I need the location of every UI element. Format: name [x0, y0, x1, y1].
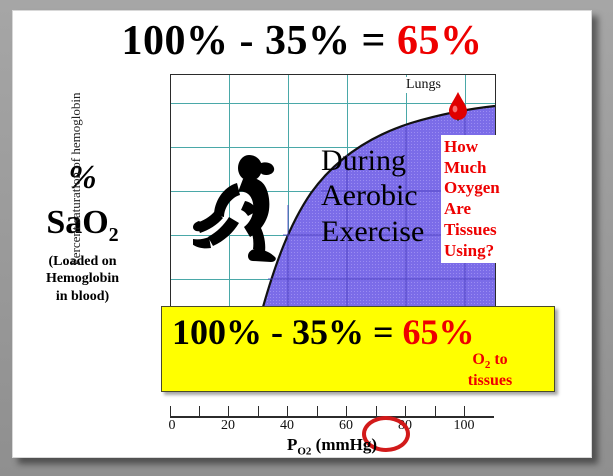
- x-axis-title-sub: O2: [297, 445, 311, 457]
- title-equation: 100% - 35% = 65%: [13, 17, 591, 65]
- x-tick-mark: [170, 406, 171, 417]
- banner-note-line-1: O2 to: [442, 351, 538, 372]
- x-tick-label: 20: [221, 418, 235, 434]
- x-tick-mark: [464, 406, 465, 417]
- title-equation-rhs: 65%: [397, 18, 483, 64]
- x-tick-mark: [346, 406, 347, 417]
- banner-note-to: to: [490, 351, 507, 368]
- x-tick-label: 0: [169, 418, 176, 434]
- y-tick-mark: [170, 279, 171, 280]
- x-tick-mark: [199, 406, 200, 417]
- banner-equation: 100% - 35% = 65%: [172, 311, 475, 353]
- x-axis: 0 20 40 60 80 100: [170, 404, 494, 418]
- x-tick-mark: [287, 406, 288, 417]
- x-axis-line: [170, 416, 494, 418]
- x-tick-mark: [228, 406, 229, 417]
- runner-silhouette-icon: [193, 149, 289, 267]
- x-tick-mark: [435, 406, 436, 417]
- question-text: How Much Oxygen Are Tissues Using?: [441, 135, 525, 263]
- title-equation-lhs: 100% - 35% =: [122, 18, 386, 64]
- x-tick-mark: [376, 406, 377, 417]
- slide-canvas: 100% - 35% = 65% % SaO2 (Loaded on Hemog…: [12, 10, 592, 458]
- x-axis-title: PO2 (mmHg): [170, 435, 494, 457]
- y-tick-mark: [170, 103, 171, 104]
- x-axis-title-unit: (mmHg): [311, 435, 377, 454]
- x-tick-mark: [317, 406, 318, 417]
- banner-note-line-2: tissues: [442, 372, 538, 390]
- x-tick-label: 60: [339, 418, 353, 434]
- blood-drop-icon: [447, 91, 469, 121]
- banner-note: O2 to tissues: [442, 351, 538, 390]
- summary-banner: 100% - 35% = 65% O2 to tissues: [161, 306, 555, 392]
- x-tick-label: 40: [280, 418, 294, 434]
- banner-equation-lhs: 100% - 35% =: [172, 312, 394, 352]
- x-tick-mark: [405, 406, 406, 417]
- banner-equation-rhs: 65%: [403, 312, 475, 352]
- y-tick-mark: [170, 191, 171, 192]
- exercise-label: DuringAerobicExercise: [321, 143, 424, 249]
- slide-root: 100% - 35% = 65% % SaO2 (Loaded on Hemog…: [0, 0, 613, 476]
- y-axis-title: Percent saturation of hemoglobin: [68, 64, 84, 294]
- sao2-subscript: 2: [109, 224, 119, 246]
- x-axis-title-main: P: [287, 435, 297, 454]
- banner-note-o: O: [472, 351, 484, 368]
- x-tick-mark: [258, 406, 259, 417]
- lungs-label: Lungs: [403, 77, 444, 93]
- x-tick-label: 100: [454, 418, 475, 434]
